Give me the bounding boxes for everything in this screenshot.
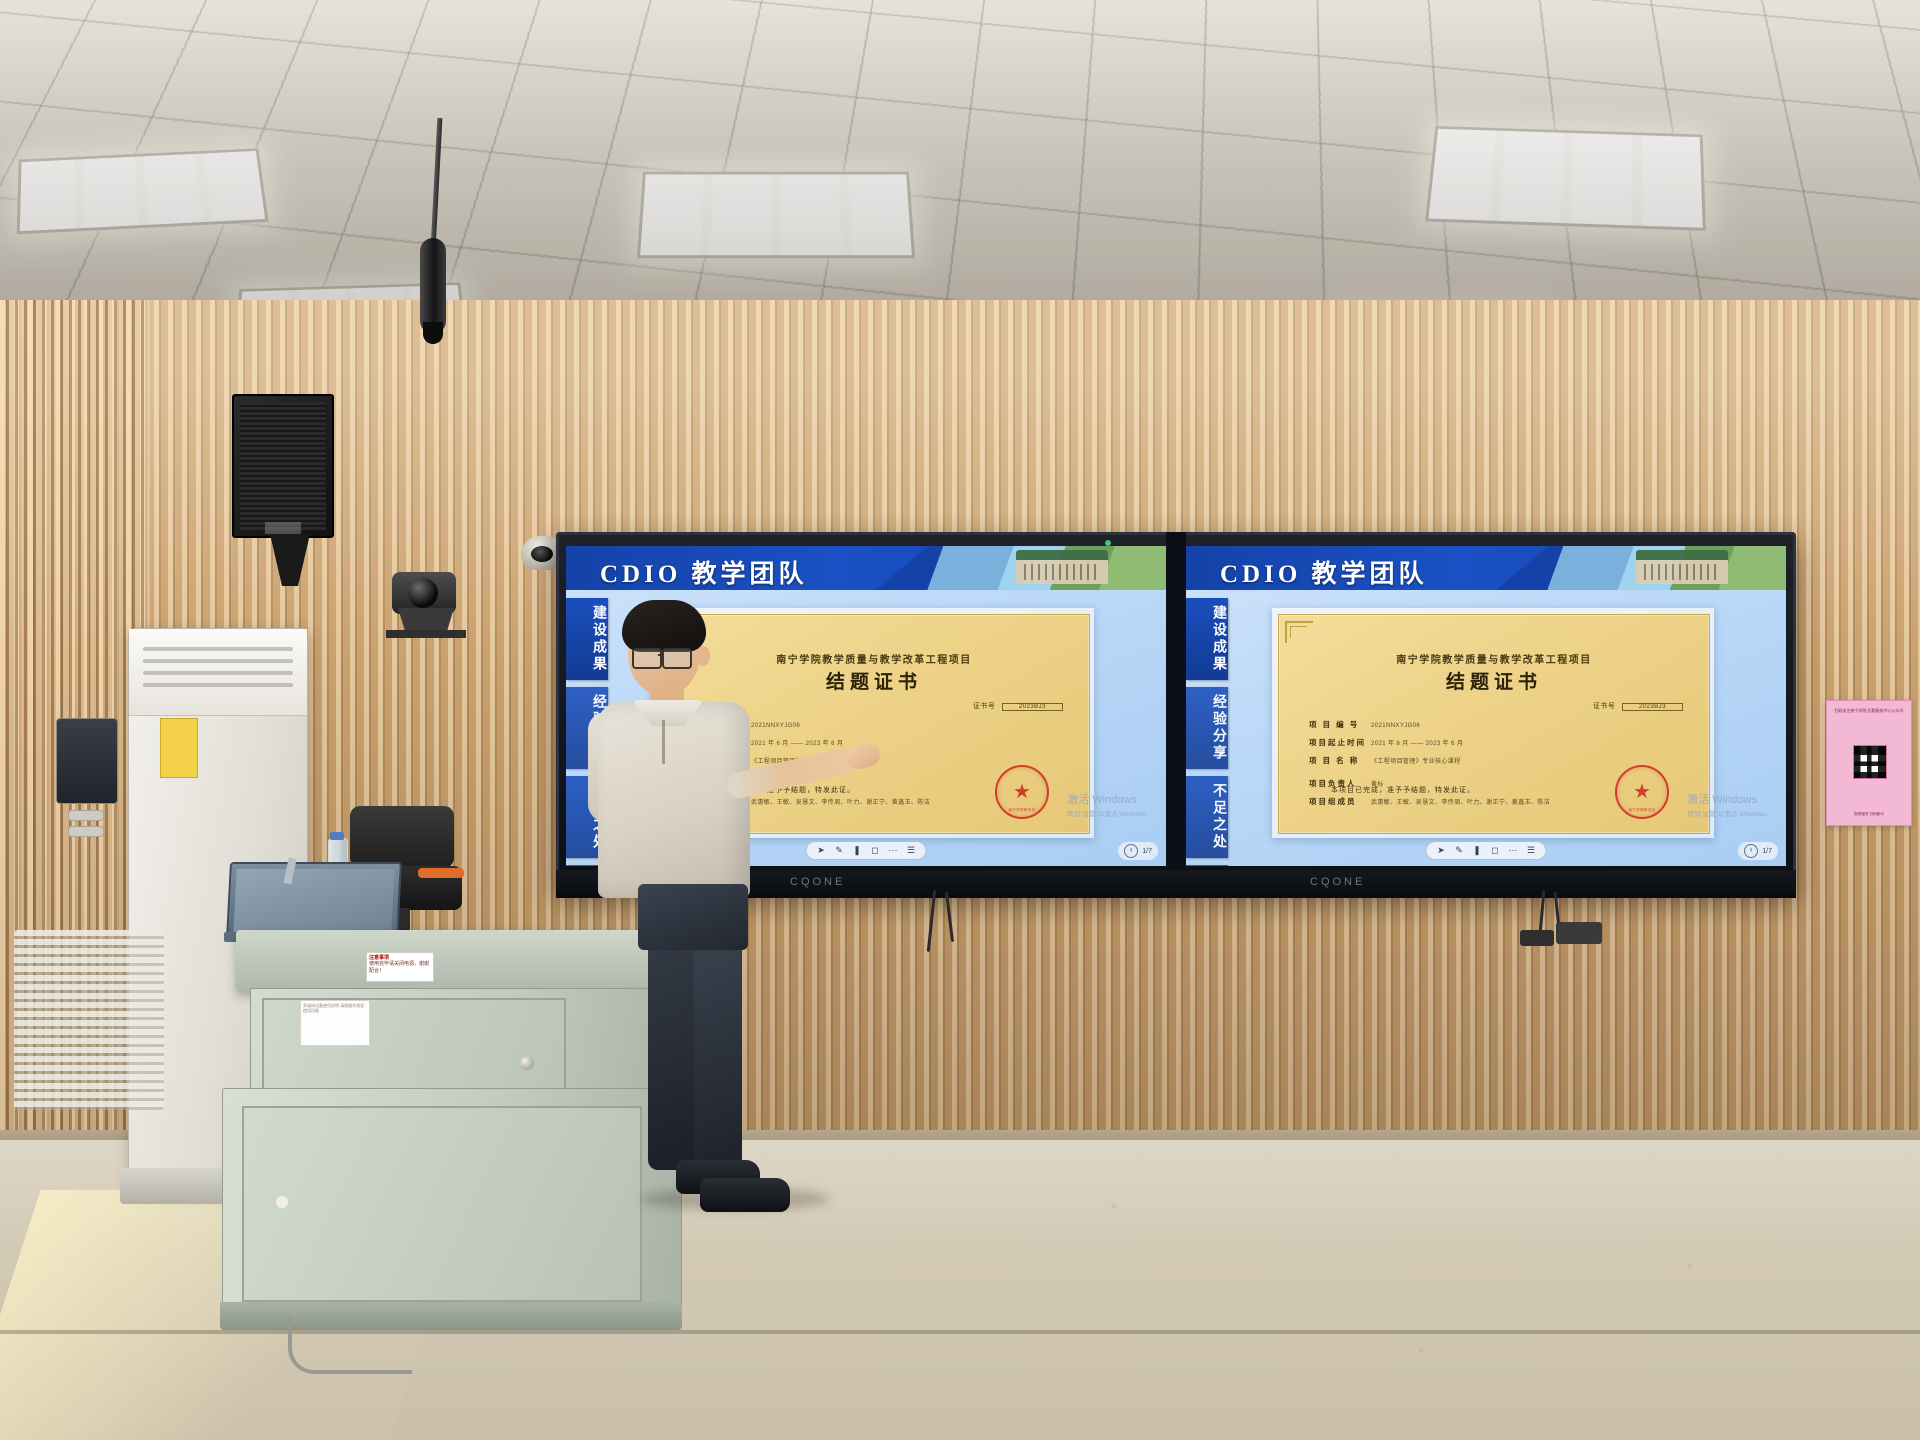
ac-air-grille bbox=[14, 930, 164, 1110]
office-chair-back bbox=[350, 806, 454, 868]
campus-building-graphic bbox=[1636, 550, 1728, 584]
slide-title: CDIO 教学团队 bbox=[600, 554, 808, 590]
certificate: 南宁学院教学质量与教学改革工程项目 结题证书 证书号 2023BJ3 项 目 编… bbox=[1278, 614, 1710, 834]
speaker-badge bbox=[265, 522, 301, 534]
more-icon[interactable]: ⋯ bbox=[1508, 845, 1519, 856]
slide-pager[interactable]: ‹ 1/7 bbox=[1118, 842, 1158, 860]
certificate-number-label: 证书号 bbox=[973, 703, 996, 710]
prev-slide-button[interactable]: ‹ bbox=[1744, 844, 1758, 858]
seal-text: 南宁学院教务处 bbox=[1617, 808, 1667, 813]
field-value: 2021 年 6 月 —— 2023 年 6 月 bbox=[751, 738, 843, 747]
laptop-screen[interactable] bbox=[233, 869, 394, 933]
field-value: 《工程项目管理》专业核心课程 bbox=[1371, 756, 1461, 765]
nav-tab-construction-results[interactable]: 建设成果 bbox=[1186, 598, 1228, 680]
ac-button[interactable] bbox=[68, 810, 104, 821]
podium-info-label: 多媒体设备使用说明 请按操作规程使用设备 bbox=[300, 1000, 370, 1046]
presenter-shoe bbox=[700, 1178, 790, 1212]
certificate-closing-line: 本项目已完成，准予予结题，特发此证。 bbox=[1331, 785, 1475, 795]
watermark-line2: 转到"设置"以激活 Windows。 bbox=[1067, 808, 1152, 818]
slide-page-indicator: 1/7 bbox=[1142, 848, 1152, 855]
official-seal: ★ 南宁学院教务处 bbox=[1615, 765, 1669, 819]
slide-toolbar[interactable]: ➤ ✎ ❚ ◻ ⋯ ☰ bbox=[1426, 841, 1547, 860]
certificate-corner-ornament bbox=[1285, 621, 1313, 643]
certificate-title: 结题证书 bbox=[1279, 667, 1709, 694]
wall-speaker bbox=[232, 394, 334, 538]
field-value: 2021 年 6 月 —— 2023 年 6 月 bbox=[1371, 738, 1463, 747]
presenter-right-leg bbox=[694, 940, 742, 1168]
poster-footer: 报修服务 扫码即可 bbox=[1832, 812, 1906, 817]
seal-text: 南宁学院教务处 bbox=[997, 808, 1047, 813]
display-screen-right[interactable]: CDIO 教学团队 建设成果 经验分享 不足之处 总结思考 南宁学院教学质量与教… bbox=[1186, 546, 1786, 866]
pen-icon[interactable]: ✎ bbox=[1454, 845, 1465, 856]
cursor-icon[interactable]: ➤ bbox=[816, 845, 827, 856]
slide-toolbar[interactable]: ➤ ✎ ❚ ◻ ⋯ ☰ bbox=[806, 841, 927, 860]
podium-lower-lock-icon[interactable] bbox=[276, 1196, 288, 1208]
seal-star-icon: ★ bbox=[1633, 782, 1651, 802]
ac-energy-label bbox=[160, 718, 198, 778]
camera-wall-plate bbox=[386, 630, 466, 638]
official-seal: ★ 南宁学院教务处 bbox=[995, 765, 1049, 819]
poster-title: 扫码关注南宁学院 后勤服务中心公众号 bbox=[1832, 708, 1906, 714]
ceiling bbox=[0, 0, 1920, 330]
eraser-icon[interactable]: ◻ bbox=[1490, 845, 1501, 856]
ceiling-shading bbox=[0, 0, 1920, 330]
menu-icon[interactable]: ☰ bbox=[1526, 845, 1537, 856]
screen-divider-bezel bbox=[1166, 532, 1186, 892]
field-key: 项目组成员 bbox=[1309, 796, 1371, 807]
slide-header-bar: CDIO 教学团队 bbox=[1186, 546, 1786, 590]
slide-pager[interactable]: ‹ 1/7 bbox=[1738, 842, 1778, 860]
microphone-icon bbox=[420, 238, 446, 334]
ac-vent bbox=[143, 683, 293, 687]
certificate-field-row: 项目起止时间 2021 年 6 月 —— 2023 年 6 月 bbox=[1309, 737, 1689, 748]
field-value: 2021NNXYJG06 bbox=[1371, 723, 1420, 729]
nav-tab-construction-results[interactable]: 建设成果 bbox=[566, 598, 608, 680]
wall-outlet-box bbox=[1520, 930, 1554, 946]
presenter-left-leg bbox=[648, 940, 694, 1170]
cursor-icon[interactable]: ➤ bbox=[1436, 845, 1447, 856]
camera-lens-icon bbox=[408, 578, 438, 608]
presenter-torso bbox=[598, 702, 750, 898]
slide-page-indicator: 1/7 bbox=[1762, 848, 1772, 855]
microphone-tip bbox=[423, 322, 443, 344]
speaker-grille bbox=[240, 402, 326, 530]
prev-slide-button[interactable]: ‹ bbox=[1124, 844, 1138, 858]
presenter-hair bbox=[622, 600, 706, 652]
highlighter-icon[interactable]: ❚ bbox=[1472, 845, 1483, 856]
campus-building-graphic bbox=[1016, 550, 1108, 584]
slide-nav-tabs[interactable]: 建设成果 经验分享 不足之处 总结思考 bbox=[1186, 598, 1230, 866]
classroom-presentation-scene: CDIO 教学团队 建设成果 经验分享 不足之处 总结思考 南宁学院教学质量与教… bbox=[0, 0, 1920, 1440]
eraser-icon[interactable]: ◻ bbox=[870, 845, 881, 856]
wall-poster: 扫码关注南宁学院 后勤服务中心公众号 报修服务 扫码即可 bbox=[1826, 700, 1912, 826]
podium-top-surface bbox=[236, 930, 666, 992]
pen-icon[interactable]: ✎ bbox=[834, 845, 845, 856]
nav-tab-experience-sharing[interactable]: 经验分享 bbox=[1186, 687, 1228, 769]
windows-activation-watermark: 激活 Windows 转到"设置"以激活 Windows。 bbox=[1687, 791, 1772, 818]
certificate-number-label: 证书号 bbox=[1593, 703, 1616, 710]
glasses-bridge bbox=[658, 654, 664, 656]
podium-floor-cable bbox=[288, 1316, 412, 1374]
certificate-number-value: 2023BJ3 bbox=[1002, 703, 1063, 711]
watermark-line1: 激活 Windows bbox=[1687, 791, 1772, 807]
certificate-field-row: 项 目 名 称 《工程项目管理》专业核心课程 bbox=[1309, 755, 1689, 766]
nav-tab-summary-reflection[interactable]: 总结思考 bbox=[1186, 865, 1228, 866]
laptop[interactable] bbox=[226, 862, 402, 940]
ac-vent bbox=[143, 659, 293, 663]
watermark-line1: 激活 Windows bbox=[1067, 791, 1152, 807]
ac-vent bbox=[143, 671, 293, 675]
glasses-icon bbox=[662, 648, 692, 669]
certificate-title: 结题证书 bbox=[659, 667, 1089, 694]
wall-outlet-box bbox=[1556, 922, 1602, 944]
field-value: 2021NNXYJG06 bbox=[751, 723, 800, 729]
nav-tab-shortcomings[interactable]: 不足之处 bbox=[1186, 776, 1228, 858]
dome-camera-lens-icon bbox=[531, 546, 553, 562]
display-brand-right: CQONE bbox=[1310, 876, 1365, 888]
ac-display-panel[interactable] bbox=[56, 718, 118, 804]
podium-lower-door[interactable] bbox=[242, 1106, 642, 1302]
certificate-org-line: 南宁学院教学质量与教学改革工程项目 bbox=[1279, 651, 1709, 666]
qr-code-icon bbox=[1853, 745, 1887, 779]
bottle-cap bbox=[330, 832, 344, 840]
presenter-hips bbox=[638, 884, 748, 950]
more-icon[interactable]: ⋯ bbox=[888, 845, 899, 856]
ac-button[interactable] bbox=[68, 826, 104, 837]
certificate-number-value: 2023BJ3 bbox=[1622, 703, 1683, 711]
certificate-number-row: 证书号 2023BJ3 bbox=[973, 701, 1063, 711]
glasses-icon bbox=[632, 648, 662, 669]
podium-warning-label: 注意事项 使用完毕请关闭电源，谢谢配合！ bbox=[366, 952, 434, 982]
slide-header-bar: CDIO 教学团队 bbox=[566, 546, 1166, 590]
campus-banner-image bbox=[1496, 546, 1786, 590]
menu-icon[interactable]: ☰ bbox=[906, 845, 917, 856]
field-value: 武惠敏、王敏、吴慧文、李传周、叶力、谢正宁、黄鑫玉、陈洁 bbox=[1371, 797, 1550, 806]
seal-star-icon: ★ bbox=[1013, 782, 1031, 802]
presenter-shirt-placket bbox=[662, 720, 665, 764]
office-chair-armrest bbox=[418, 868, 464, 878]
field-key: 项 目 名 称 bbox=[1309, 755, 1371, 766]
certificate-field-row: 项 目 编 号 2021NNXYJG06 bbox=[1309, 719, 1689, 730]
field-value: 武惠敏、王敏、吴慧文、李传周、叶力、谢正宁、黄鑫玉、陈洁 bbox=[751, 797, 930, 806]
certificate-number-row: 证书号 2023BJ3 bbox=[1593, 701, 1683, 711]
field-key: 项 目 编 号 bbox=[1309, 719, 1371, 730]
certificate-org-line: 南宁学院教学质量与教学改革工程项目 bbox=[659, 651, 1089, 666]
highlighter-icon[interactable]: ❚ bbox=[852, 845, 863, 856]
ac-vent bbox=[143, 647, 293, 651]
windows-activation-watermark: 激活 Windows 转到"设置"以激活 Windows。 bbox=[1067, 791, 1152, 818]
display-brand-left: CQONE bbox=[790, 876, 845, 888]
presenter-ear bbox=[696, 646, 710, 666]
field-key: 项目起止时间 bbox=[1309, 737, 1371, 748]
warning-body: 使用完毕请关闭电源，谢谢配合！ bbox=[369, 961, 431, 974]
certificate-frame: 南宁学院教学质量与教学改革工程项目 结题证书 证书号 2023BJ3 项 目 编… bbox=[1272, 608, 1714, 838]
podium-lock-icon[interactable] bbox=[520, 1056, 534, 1070]
watermark-line2: 转到"设置"以激活 Windows。 bbox=[1687, 808, 1772, 818]
campus-banner-image bbox=[876, 546, 1166, 590]
slide-title: CDIO 教学团队 bbox=[1220, 554, 1428, 590]
